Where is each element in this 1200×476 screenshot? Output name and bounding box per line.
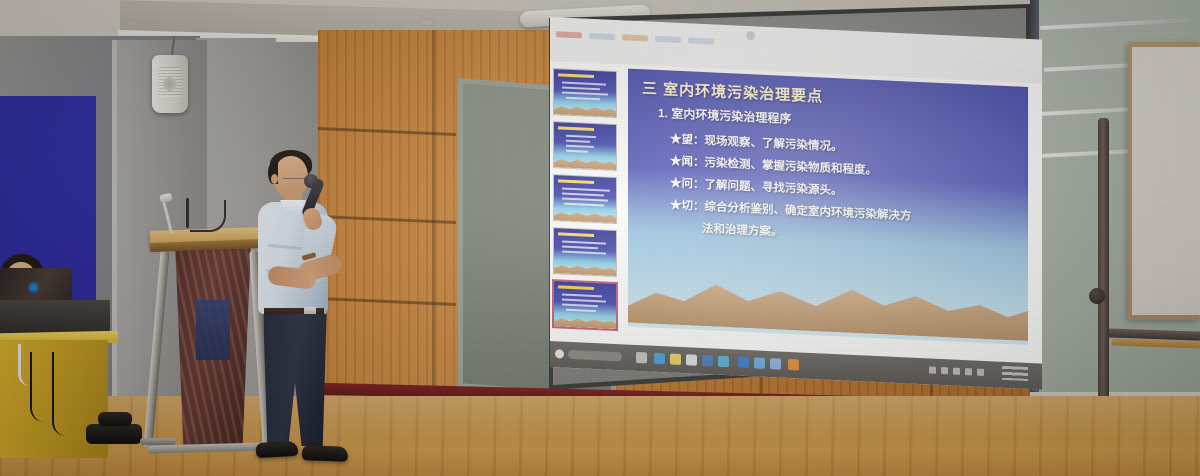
slide-thumbnail-panel[interactable]: [554, 69, 620, 362]
presenter-shoe-left: [256, 441, 299, 458]
wall-speaker: [152, 55, 188, 113]
floor-cable-tray: [140, 438, 176, 445]
presenter-shoe-right: [302, 445, 348, 462]
ribbon-tab-insert[interactable]: [622, 34, 648, 41]
system-tray[interactable]: [929, 366, 984, 376]
slide-bullet-2: ★闻：污染检测、掌握污染物质和程度。: [670, 153, 877, 179]
chat-icon[interactable]: [718, 356, 729, 368]
slide-bullet-5: 法和治理方案。: [702, 220, 783, 240]
ceiling-light-icon: [418, 18, 436, 26]
cable: [30, 352, 54, 422]
slide-title: 三 室内环境污染治理要点: [642, 77, 823, 106]
ribbon-tab-home[interactable]: [589, 33, 615, 40]
whiteboard-adjust-knob: [1089, 288, 1105, 304]
file-explorer-icon[interactable]: [670, 354, 681, 366]
laptop-logo-icon: [28, 282, 39, 293]
powerpoint-window[interactable]: 三 室内环境污染治理要点 1. 室内环境污染治理程序 ★望：现场观察、了解污染情…: [550, 17, 1042, 390]
slide-thumbnail[interactable]: [554, 175, 616, 223]
whiteboard-surface: [1132, 47, 1200, 315]
lecture-room-photo: 三 室内环境污染治理要点 1. 室内环境污染治理程序 ★望：现场观察、了解污染情…: [0, 0, 1200, 476]
speaker-cone-icon: [163, 77, 177, 91]
gooseneck-microphone: [190, 200, 226, 232]
current-slide[interactable]: 三 室内环境污染治理要点 1. 室内环境污染治理程序 ★望：现场观察、了解污染情…: [628, 69, 1028, 345]
pen-icon[interactable]: [929, 366, 936, 373]
desk-shelf: [0, 300, 110, 334]
slide-thumbnail-selected[interactable]: [554, 281, 616, 329]
volume-icon[interactable]: [965, 368, 972, 375]
wps-icon[interactable]: [770, 358, 781, 370]
windows-start-icon[interactable]: [555, 349, 564, 358]
lectern-badge: [196, 300, 230, 360]
mail-icon[interactable]: [702, 355, 713, 367]
presenter-ear: [271, 174, 278, 184]
word-icon[interactable]: [738, 357, 749, 369]
ime-icon[interactable]: [977, 369, 984, 376]
slide-bullet-1: ★望：现场观察、了解污染情况。: [670, 131, 843, 155]
slide-thumbnail[interactable]: [554, 122, 616, 170]
presenter-trousers: [262, 314, 328, 446]
floor-equipment: [86, 424, 142, 444]
task-view-icon[interactable]: [636, 352, 647, 364]
slide-dune-graphic: [628, 263, 1028, 341]
gooseneck-microphone-stem: [186, 198, 189, 228]
wood-seam-vertical: [432, 30, 435, 430]
ribbon-tab-strip[interactable]: [556, 31, 714, 44]
taskbar-clock[interactable]: [1002, 366, 1028, 381]
browser-icon[interactable]: [654, 353, 665, 365]
excel-icon[interactable]: [754, 357, 765, 369]
ribbon-tab-file[interactable]: [556, 31, 582, 38]
ribbon-help-icon[interactable]: [746, 31, 755, 40]
cable: [52, 352, 70, 436]
mobile-whiteboard: [1128, 42, 1200, 320]
powerpoint-icon[interactable]: [788, 359, 799, 371]
search-input[interactable]: [568, 350, 622, 361]
store-icon[interactable]: [686, 354, 697, 366]
presenter: [246, 150, 366, 460]
network-icon[interactable]: [953, 368, 960, 375]
slide-thumbnail[interactable]: [554, 69, 616, 117]
slide-thumbnail[interactable]: [554, 228, 616, 276]
ribbon-tab-design[interactable]: [655, 36, 681, 43]
slide-bullet-3: ★问：了解问题、寻找污染源头。: [670, 175, 843, 199]
ribbon-tab-transitions[interactable]: [688, 37, 714, 44]
projection-screen: 三 室内环境污染治理要点 1. 室内环境污染治理程序 ★望：现场观察、了解污染情…: [520, 4, 1030, 390]
ceiling-vent-icon: [124, 20, 137, 26]
floor-reflection: [0, 396, 1200, 476]
chevron-up-icon[interactable]: [941, 367, 948, 374]
slide-subtitle: 1. 室内环境污染治理程序: [658, 104, 791, 127]
floor-equipment: [98, 412, 132, 426]
